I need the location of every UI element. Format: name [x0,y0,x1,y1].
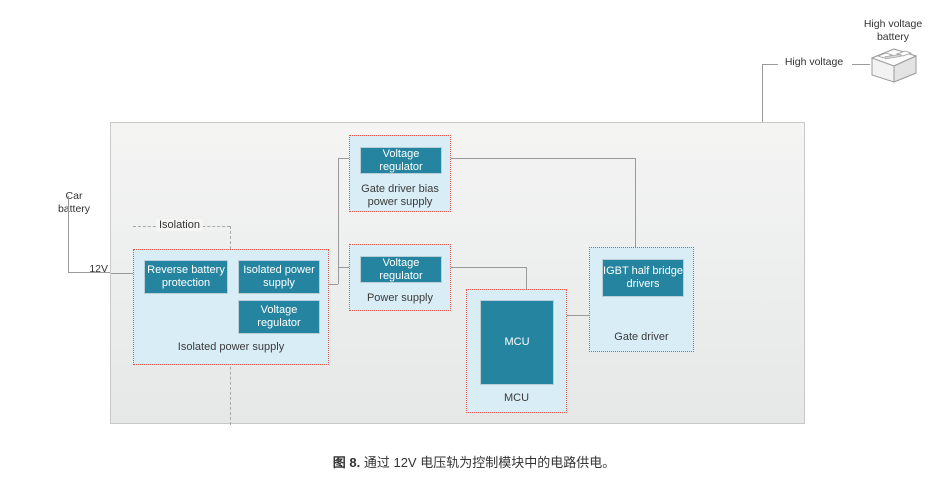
chip-isolated-voltage-regulator[interactable]: Voltageregulator [238,300,320,334]
figure-caption: 图 8. 通过 12V 电压轨为控制模块中的电路供电。 [0,452,948,471]
car-battery-label: Carbattery [46,190,102,216]
module-gate-driver[interactable]: IGBT half bridgedrivers Gate driver [589,247,694,352]
module-mcu[interactable]: MCU MCU [466,289,567,413]
high-voltage-battery-icon [866,45,920,85]
diagram-panel: Isolation Reverse batteryprotection Isol… [110,122,805,424]
chip-mcu[interactable]: MCU [480,300,554,385]
chip-isolated-power-supply[interactable]: Isolated powersupply [238,260,320,294]
figure-caption-number: 图 8. [333,455,360,470]
power-supply-to-mcu-vertical [526,267,527,289]
power-supply-to-mcu-horizontal [451,267,526,268]
voltage-12v-label: 12V [74,263,108,276]
supply-trunk-vertical [338,158,339,284]
mcu-to-gate-driver-wire [567,315,589,316]
figure-caption-text: 通过 12V 电压轨为控制模块中的电路供电。 [364,455,615,470]
car-battery-bracket-spine [68,196,69,273]
module-power-supply[interactable]: Voltage regulator Power supply [349,244,451,311]
gate-bias-supply-input-wire [338,158,349,159]
chip-power-supply-regulator[interactable]: Voltage regulator [360,256,442,283]
caption-gate-driver-bias-power-supply: Gate driver biaspower supply [350,183,450,209]
isolated-supply-input-wire [111,273,133,274]
chip-reverse-battery-protection[interactable]: Reverse batteryprotection [144,260,228,294]
high-voltage-battery-label: High voltagebattery [850,18,936,44]
car-battery-bracket-bottom [68,272,108,273]
module-gate-driver-bias-power-supply[interactable]: Voltage regulator Gate driver biaspower … [349,135,451,212]
gate-bias-to-igbt-horizontal [451,158,635,159]
power-supply-input-wire [338,267,349,268]
chip-gate-driver-bias-regulator[interactable]: Voltage regulator [360,147,442,174]
caption-power-supply: Power supply [350,292,450,305]
caption-isolated-power-supply: Isolated power supply [134,341,328,354]
chip-igbt-half-bridge-drivers[interactable]: IGBT half bridgedrivers [602,259,684,297]
high-voltage-lead-wire [762,64,778,65]
caption-gate-driver: Gate driver [590,331,693,344]
isolation-label: Isolation [156,219,203,231]
caption-mcu: MCU [467,392,566,405]
module-isolated-power-supply[interactable]: Reverse batteryprotection Isolated power… [133,249,329,365]
isolated-supply-output-wire [329,284,338,285]
high-voltage-label: High voltage [778,56,850,69]
